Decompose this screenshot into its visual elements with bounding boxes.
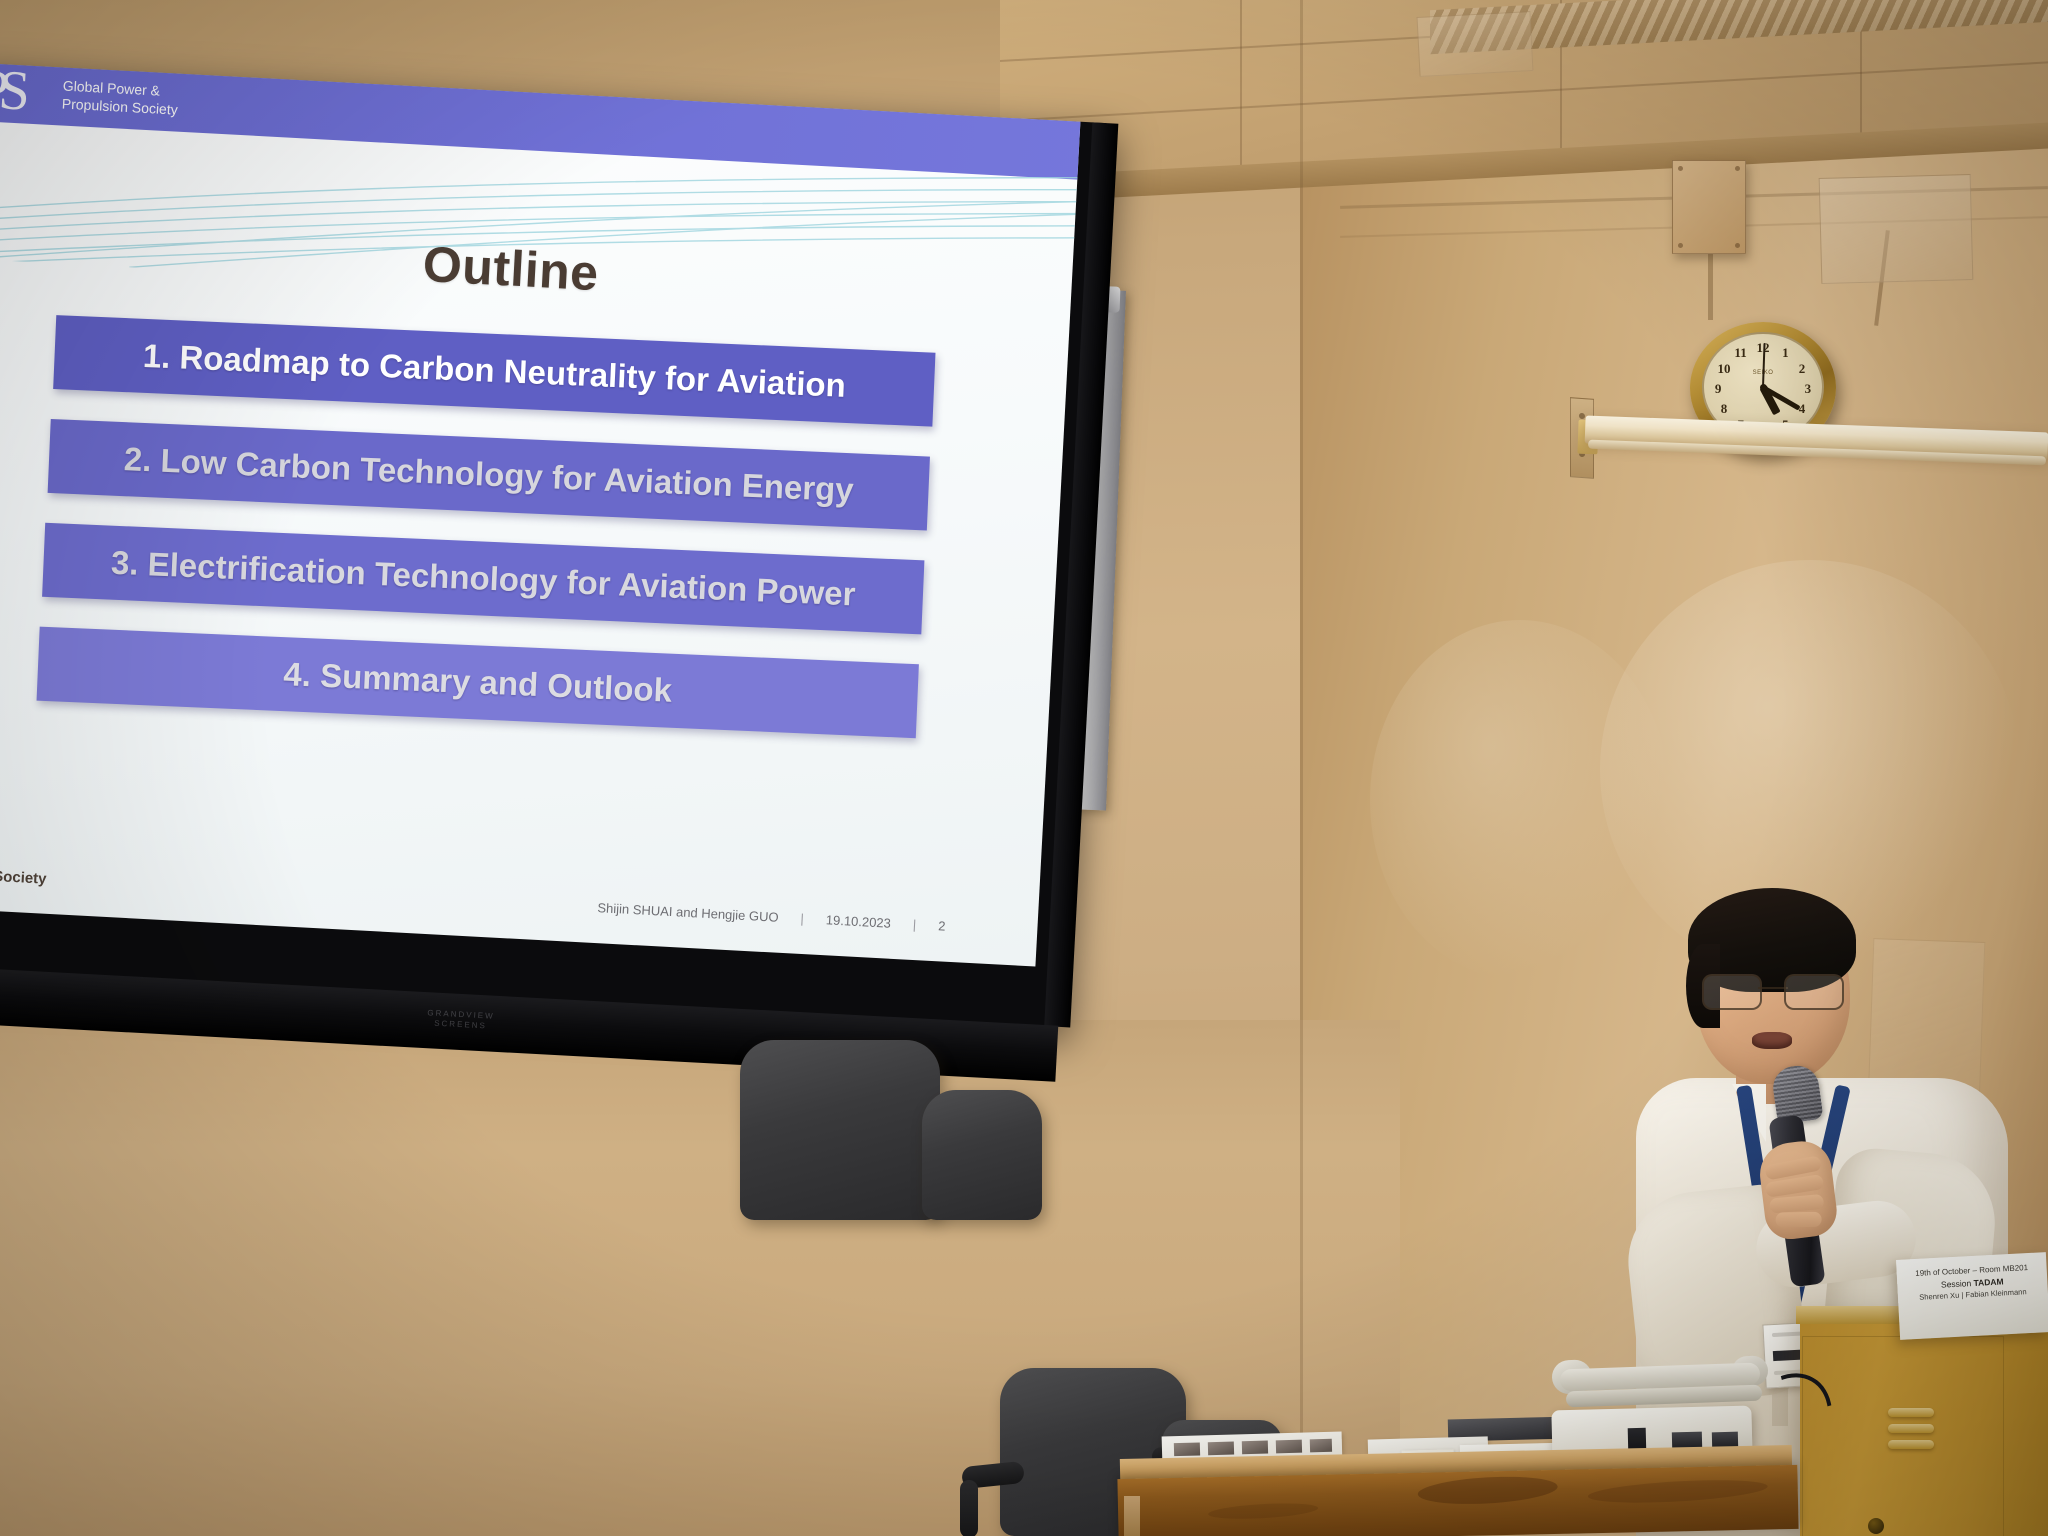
outline-item-2[interactable]: 2. Low Carbon Technology for Aviation En… (48, 419, 930, 531)
photo-scene: SEIKO 12 1 2 3 4 5 6 7 8 9 10 11 (0, 0, 2048, 1536)
session-sign-code: TADAM (1973, 1276, 2004, 1288)
slide-footer-authors: Shijin SHUAI and Hengjie GUO (597, 900, 779, 925)
desk-leg (1124, 1496, 1140, 1536)
projector-port (1672, 1432, 1702, 1449)
outline-item-3[interactable]: 3. Electrification Technology for Aviati… (42, 523, 924, 635)
lectern-vent-slat (1888, 1408, 1934, 1417)
presentation-slide: PPS Global Power & Propulsion Society (0, 62, 1080, 967)
clock-numeral: 10 (1718, 361, 1731, 377)
gpps-logo-mark: PPS (0, 62, 21, 119)
lectern-cable-hole (1868, 1518, 1884, 1534)
slide-footer-separator-2: | (912, 917, 916, 932)
clock-numeral: 8 (1721, 401, 1728, 417)
lectern-front-panel (1802, 1336, 2004, 1536)
wall-stain-2 (1370, 620, 1670, 980)
slide-footer-date: 19.10.2023 (825, 912, 891, 930)
glasses-lens-left (1702, 974, 1762, 1010)
chair-behind-desk-2 (922, 1090, 1052, 1220)
slide-footer-meta: Shijin SHUAI and Hengjie GUO | 19.10.202… (597, 900, 946, 934)
clock-second-hand (1762, 343, 1766, 387)
clock-center-pin (1760, 384, 1767, 391)
outline-item-1[interactable]: 1. Roadmap to Carbon Neutrality for Avia… (53, 315, 935, 427)
outline-item-1-label: 1. Roadmap to Carbon Neutrality for Avia… (142, 337, 846, 405)
presenter-mouth (1752, 1032, 1792, 1049)
clock-numeral: 11 (1734, 345, 1746, 361)
session-sign: 19th of October – Room MB201 Session TAD… (1896, 1252, 2048, 1340)
outline-list: 1. Roadmap to Carbon Neutrality for Avia… (35, 311, 936, 773)
screen-brand-label: GRANDVIEW SCREENS (427, 1008, 495, 1032)
presenter-glasses (1702, 974, 1844, 1008)
wall-corner-seam (1300, 0, 1303, 1536)
outline-item-4[interactable]: 4. Summary and Outlook (37, 627, 919, 739)
session-sign-prefix: Session (1941, 1278, 1974, 1290)
glasses-lens-right (1784, 974, 1844, 1010)
clock-numeral: 1 (1782, 345, 1789, 361)
slide-title: Outline (0, 210, 1073, 328)
gpps-logo-text: Global Power & Propulsion Society (61, 78, 179, 119)
slide-footer-separator-1: | (800, 911, 804, 926)
lectern-vent-slat (1888, 1440, 1934, 1449)
slide-footer-org: Propulsion Society (0, 864, 47, 888)
outline-item-3-label: 3. Electrification Technology for Aviati… (110, 544, 856, 614)
clock-numeral: 3 (1805, 381, 1812, 397)
clock-numeral: 9 (1715, 381, 1722, 397)
junction-box (1672, 160, 1746, 254)
outline-item-2-label: 2. Low Carbon Technology for Aviation En… (123, 440, 854, 509)
projection-screen: PPS Global Power & Propulsion Society (0, 62, 1118, 1082)
clock-numeral: 4 (1799, 401, 1806, 417)
clock-numeral: 2 (1799, 361, 1806, 377)
wall-patch (1819, 174, 1974, 284)
outline-item-4-label: 4. Summary and Outlook (283, 655, 673, 710)
slide-footer-page-number: 2 (938, 918, 946, 933)
lectern-vent-slat (1888, 1424, 1934, 1433)
wall-patch-2 (1417, 11, 1534, 77)
